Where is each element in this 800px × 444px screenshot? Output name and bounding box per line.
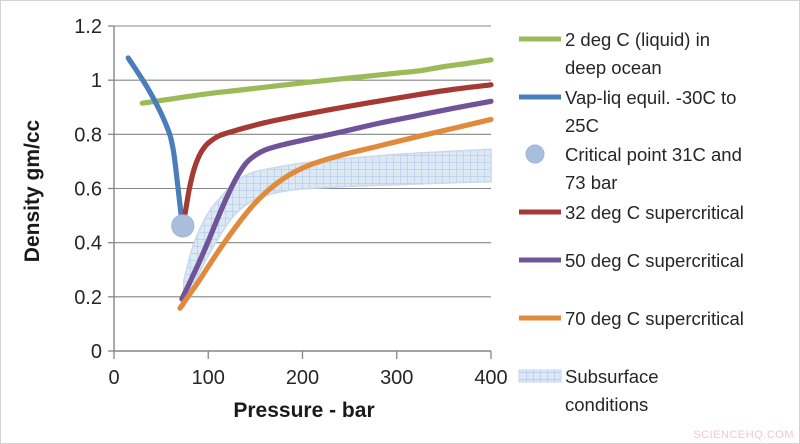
legend-entry[interactable]: 70 deg C supercritical	[519, 308, 744, 329]
x-tick-label: 300	[380, 367, 413, 389]
legend-label: Subsurfaceconditions	[565, 366, 659, 415]
y-tick-label: 0.8	[74, 124, 102, 146]
legend-label-line: deep ocean	[565, 57, 662, 78]
series-line-1	[128, 58, 183, 225]
legend-label: Vap-liq equil. -30C to25C	[565, 87, 736, 136]
legend-label-line: 32 deg C supercritical	[565, 202, 744, 223]
axes	[108, 26, 491, 359]
legend-label: 70 deg C supercritical	[565, 308, 744, 329]
legend-entry[interactable]: 50 deg C supercritical	[519, 250, 744, 271]
x-tick-label: 100	[192, 367, 225, 389]
legend-entry[interactable]: Critical point 31C and73 bar	[526, 144, 742, 193]
legend-label: 32 deg C supercritical	[565, 202, 744, 223]
subsurface-band-area	[184, 149, 491, 307]
x-tick-labels: 0100200300400	[108, 367, 507, 389]
chart-legend: 2 deg C (liquid) indeep oceanVap-liq equ…	[519, 29, 744, 415]
legend-label-line: 2 deg C (liquid) in	[565, 29, 710, 50]
legend-label-line: 73 bar	[565, 172, 617, 193]
critical-point-dot	[172, 215, 194, 237]
y-tick-label: 0.6	[74, 179, 102, 201]
legend-swatch-band	[519, 370, 561, 382]
x-tick-label: 0	[108, 367, 119, 389]
x-tick-label: 200	[286, 367, 319, 389]
x-tick-label: 400	[474, 367, 507, 389]
y-tick-label: 1.2	[74, 16, 102, 38]
legend-label-line: 70 deg C supercritical	[565, 308, 744, 329]
subsurface-conditions-band	[184, 149, 491, 307]
legend-label-line: 25C	[565, 115, 599, 136]
legend-label: 50 deg C supercritical	[565, 250, 744, 271]
legend-entry[interactable]: Vap-liq equil. -30C to25C	[519, 87, 736, 136]
chart-container: 0100200300400 00.20.40.60.811.2 Pressure…	[0, 0, 800, 444]
legend-label-line: 50 deg C supercritical	[565, 250, 744, 271]
watermark-text: SCIENCEHQ.COM	[693, 429, 794, 441]
y-axis-title: Density gm/cc	[21, 119, 44, 262]
density-pressure-chart: 0100200300400 00.20.40.60.811.2 Pressure…	[1, 1, 800, 444]
legend-entry[interactable]: 2 deg C (liquid) indeep ocean	[519, 29, 710, 78]
legend-swatch-marker	[526, 145, 544, 163]
legend-label-line: Vap-liq equil. -30C to	[565, 87, 736, 108]
legend-label-line: conditions	[565, 394, 648, 415]
legend-label: 2 deg C (liquid) indeep ocean	[565, 29, 710, 78]
y-tick-label: 1	[91, 70, 102, 92]
y-tick-labels: 00.20.40.60.811.2	[74, 16, 102, 363]
legend-label: Critical point 31C and73 bar	[565, 144, 742, 193]
x-axis-title: Pressure - bar	[233, 399, 374, 422]
critical-point-marker	[172, 215, 194, 237]
y-tick-label: 0.2	[74, 287, 102, 309]
y-tick-label: 0.4	[74, 233, 102, 255]
legend-label-line: Subsurface	[565, 366, 659, 387]
legend-entry[interactable]: 32 deg C supercritical	[519, 202, 744, 223]
legend-entry[interactable]: Subsurfaceconditions	[519, 366, 659, 415]
y-tick-label: 0	[91, 341, 102, 363]
series-line-0	[142, 60, 491, 103]
legend-label-line: Critical point 31C and	[565, 144, 742, 165]
